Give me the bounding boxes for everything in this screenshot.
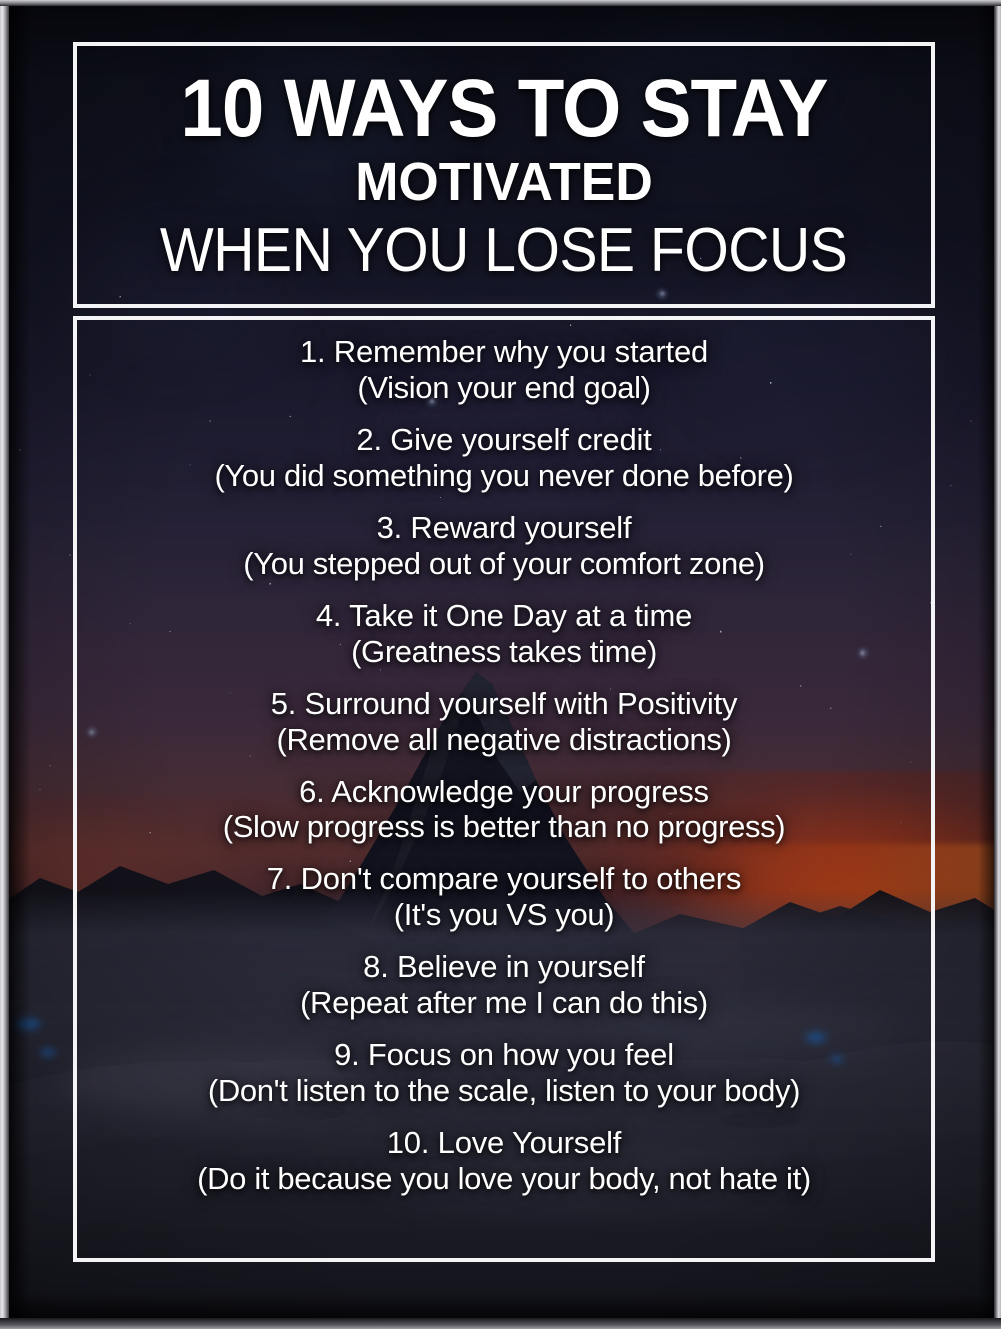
list-item: 3. Reward yourself (You stepped out of y… <box>93 510 915 582</box>
list-item: 5. Surround yourself with Positivity (Re… <box>93 686 915 758</box>
canvas-edge-right <box>994 0 1001 1329</box>
tip-heading: 6. Acknowledge your progress <box>93 774 915 810</box>
canvas-edge-top <box>0 0 1001 6</box>
tip-detail: (It's you VS you) <box>93 897 915 933</box>
tip-heading: 10. Love Yourself <box>93 1125 915 1161</box>
tip-detail: (Do it because you love your body, not h… <box>93 1161 915 1197</box>
tip-detail: (Vision your end goal) <box>93 370 915 406</box>
title-line-2: MOTIVATED <box>355 154 653 211</box>
tip-heading: 1. Remember why you started <box>93 334 915 370</box>
canvas-edge-bottom <box>0 1318 1001 1329</box>
canvas-bottom-shadow <box>0 1292 1001 1318</box>
list-item: 8. Believe in yourself (Repeat after me … <box>93 949 915 1021</box>
list-item: 1. Remember why you started (Vision your… <box>93 334 915 406</box>
tip-detail: (Don't listen to the scale, listen to yo… <box>93 1073 915 1109</box>
tip-heading: 7. Don't compare yourself to others <box>93 861 915 897</box>
title-line-1: 10 WAYS TO STAY <box>180 70 827 148</box>
tip-detail: (Slow progress is better than no progres… <box>93 809 915 845</box>
list-item: 6. Acknowledge your progress (Slow progr… <box>93 774 915 846</box>
tip-detail: (You did something you never done before… <box>93 458 915 494</box>
title-frame: 10 WAYS TO STAY MOTIVATED WHEN YOU LOSE … <box>73 42 935 308</box>
list-item: 10. Love Yourself (Do it because you lov… <box>93 1125 915 1197</box>
tips-list-frame: 1. Remember why you started (Vision your… <box>73 316 935 1262</box>
list-item: 7. Don't compare yourself to others (It'… <box>93 861 915 933</box>
title-line-3: WHEN YOU LOSE FOCUS <box>160 220 847 282</box>
poster-content: 10 WAYS TO STAY MOTIVATED WHEN YOU LOSE … <box>73 42 935 1262</box>
tip-heading: 8. Believe in yourself <box>93 949 915 985</box>
list-item: 2. Give yourself credit (You did somethi… <box>93 422 915 494</box>
canvas-edge-left <box>0 0 9 1329</box>
tip-detail: (You stepped out of your comfort zone) <box>93 546 915 582</box>
tip-heading: 4. Take it One Day at a time <box>93 598 915 634</box>
motivational-poster: 10 WAYS TO STAY MOTIVATED WHEN YOU LOSE … <box>0 0 1001 1329</box>
tip-heading: 2. Give yourself credit <box>93 422 915 458</box>
tip-detail: (Greatness takes time) <box>93 634 915 670</box>
tip-heading: 3. Reward yourself <box>93 510 915 546</box>
canvas-right-shadow <box>978 0 994 1329</box>
tip-heading: 9. Focus on how you feel <box>93 1037 915 1073</box>
tip-heading: 5. Surround yourself with Positivity <box>93 686 915 722</box>
tip-detail: (Repeat after me I can do this) <box>93 985 915 1021</box>
list-item: 4. Take it One Day at a time (Greatness … <box>93 598 915 670</box>
list-item: 9. Focus on how you feel (Don't listen t… <box>93 1037 915 1109</box>
canvas-left-shadow <box>9 0 31 1329</box>
tip-detail: (Remove all negative distractions) <box>93 722 915 758</box>
